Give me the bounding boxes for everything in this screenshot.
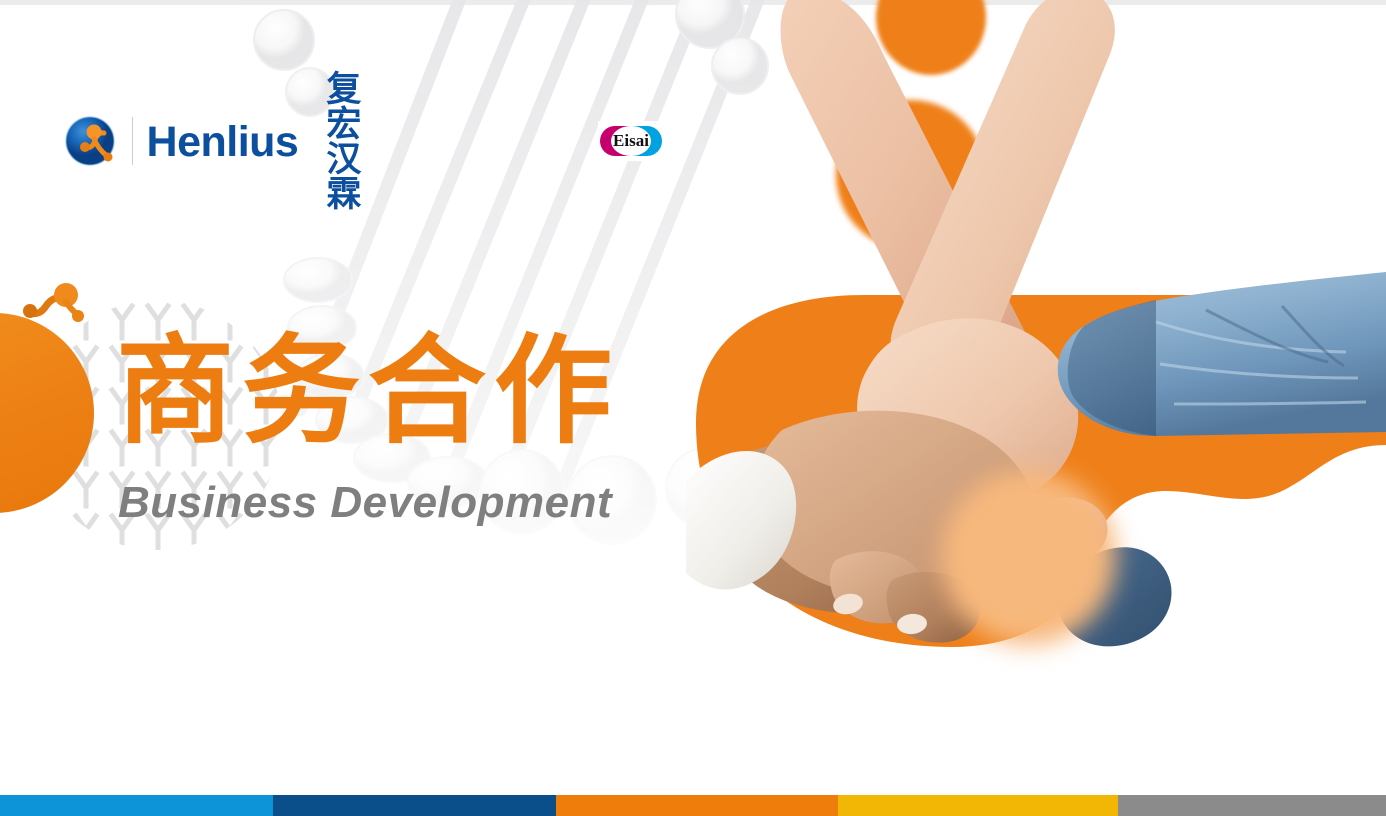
title-slide: Henlius 复宏汉霖 Eisai 商务合作 Business Develop…	[0, 0, 1386, 816]
molecule-icon	[20, 282, 86, 326]
orange-accent-circle-lower	[941, 470, 1116, 645]
page-title-chinese: 商务合作	[116, 332, 620, 450]
eisai-logo[interactable]: Eisai	[598, 121, 664, 161]
page-subtitle-english: Business Development	[118, 481, 612, 525]
bar-segment-yellow	[838, 795, 1118, 816]
teamwork-photo	[686, 0, 1386, 800]
logo-divider	[132, 117, 133, 165]
bar-segment-light-blue	[0, 795, 273, 816]
eisai-wordmark: Eisai	[600, 126, 662, 156]
henlius-wordmark: Henlius	[147, 121, 299, 164]
henlius-chinese-name: 复宏汉霖	[326, 73, 364, 213]
bar-segment-dark-blue	[273, 795, 556, 816]
bottom-color-bar	[0, 795, 1386, 816]
henlius-logo[interactable]: Henlius 复宏汉霖	[64, 108, 364, 174]
bar-segment-gray	[1118, 795, 1386, 816]
bar-segment-orange	[556, 795, 838, 816]
henlius-molecule-mark-icon	[64, 115, 116, 167]
